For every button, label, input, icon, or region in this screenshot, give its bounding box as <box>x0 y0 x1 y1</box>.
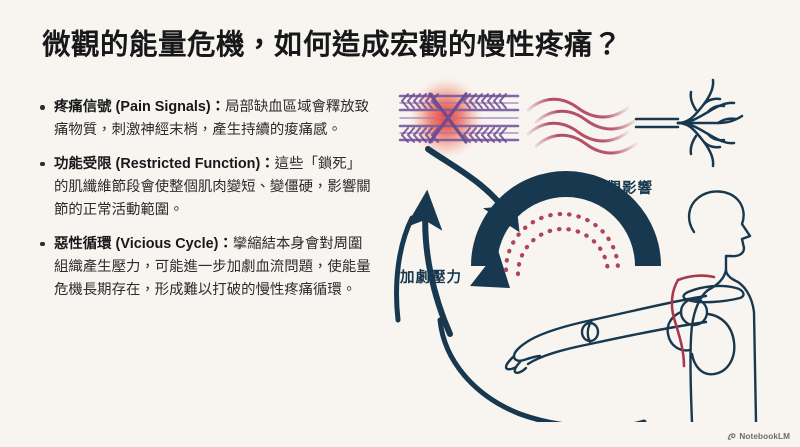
bullet-dot-icon <box>40 162 45 167</box>
notebooklm-watermark: NotebookLM <box>727 432 790 441</box>
nerve-branches-icon <box>636 80 742 166</box>
head-profile <box>689 191 750 280</box>
torso-right-outline <box>734 280 756 422</box>
bullet-heading: 功能受限 (Restricted Function)： <box>54 156 275 172</box>
list-item: 功能受限 (Restricted Function)：這些「鎖死」的肌纖維節段會… <box>36 153 372 223</box>
bullet-heading: 疼痛信號 (Pain Signals)： <box>54 99 225 115</box>
label-increased-pressure: 加劇壓力 <box>400 266 462 287</box>
pain-range-dotted-arcs <box>506 214 618 274</box>
notebooklm-icon <box>727 432 736 441</box>
label-macro-effect: 宏觀影響 <box>591 177 653 198</box>
bullet-heading: 惡性循環 (Vicious Cycle)： <box>54 236 233 252</box>
arm-lower-outline <box>528 322 706 364</box>
pain-signal-waves <box>528 99 636 153</box>
watermark-label: NotebookLM <box>739 432 790 441</box>
pain-cycle-diagram: 宏觀影響 加劇壓力 <box>378 74 798 422</box>
slide-root: 微觀的能量危機，如何造成宏觀的慢性疼痛？ 疼痛信號 (Pain Signals)… <box>0 0 800 447</box>
muscle-fiber-knot <box>400 74 518 162</box>
diagram-svg <box>378 74 798 422</box>
list-item: 疼痛信號 (Pain Signals)：局部缺血區域會釋放致痛物質，刺激神經末梢… <box>36 96 372 143</box>
hand-finger-2 <box>515 362 526 373</box>
bullet-dot-icon <box>40 105 45 110</box>
page-title: 微觀的能量危機，如何造成宏觀的慢性疼痛？ <box>42 28 758 62</box>
bullet-dot-icon <box>40 242 45 247</box>
list-item: 惡性循環 (Vicious Cycle)：攣縮結本身會對周圍組織產生壓力，可能進… <box>36 233 372 303</box>
bullet-list: 疼痛信號 (Pain Signals)：局部缺血區域會釋放致痛物質，刺激神經末梢… <box>36 96 372 303</box>
